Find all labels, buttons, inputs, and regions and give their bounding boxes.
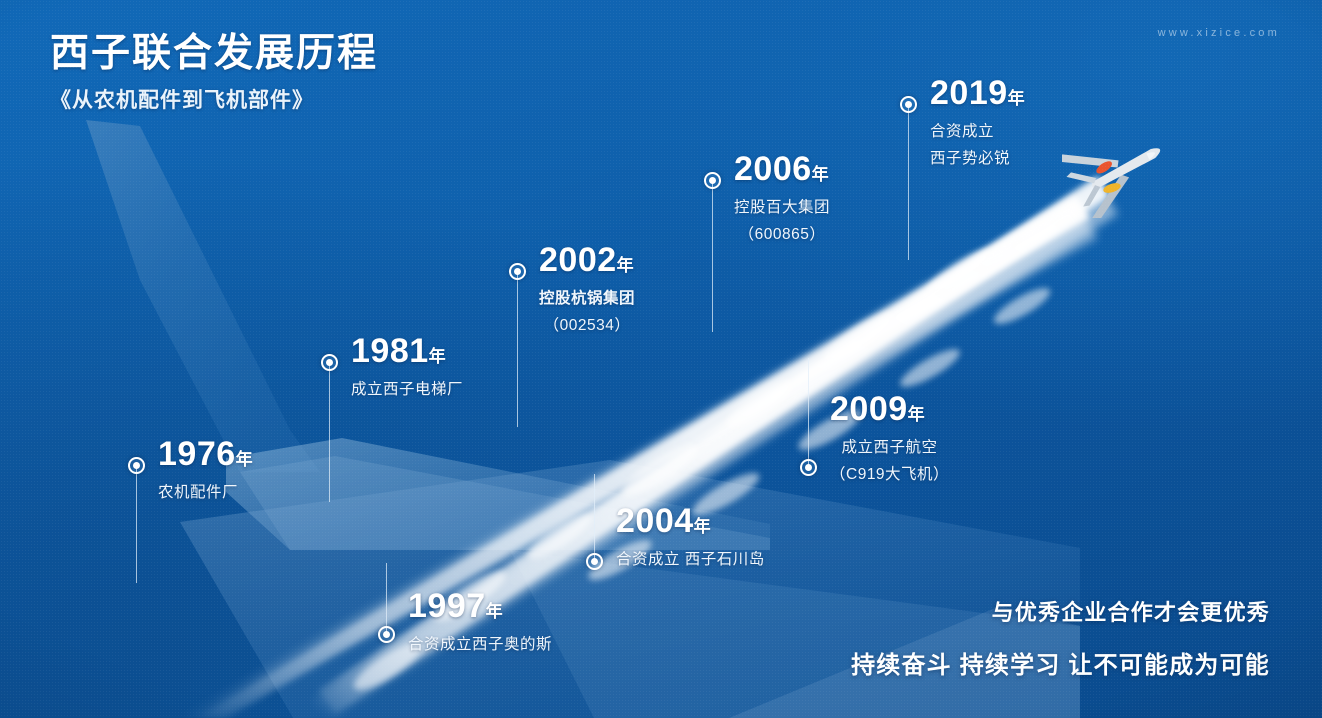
timeline-marker-dot[interactable] [704,172,721,189]
year-number: 1997 [408,587,486,625]
timeline-desc-line: 西子势必锐 [930,147,1025,171]
year-suffix: 年 [617,256,634,275]
timeline-desc-line: 农机配件厂 [158,481,253,505]
year-number: 2004 [616,502,694,540]
connector-line [517,271,518,427]
timeline-desc-line: （600865） [734,223,830,247]
timeline-year: 2009年 [830,392,949,426]
timeline-desc-line: 合资成立西子奥的斯 [408,633,552,657]
connector-line [808,358,809,468]
timeline-marker-dot[interactable] [378,626,395,643]
year-suffix: 年 [429,347,446,366]
timeline-desc-line: 合资成立 [930,120,1025,144]
connector-line [908,104,909,260]
slogan-line-2: 持续奋斗 持续学习 让不可能成为可能 [851,645,1270,680]
year-suffix: 年 [1008,89,1025,108]
timeline-marker-dot[interactable] [586,553,603,570]
timeline-marker-dot[interactable] [509,263,526,280]
poster-canvas: 西子联合发展历程 《从农机配件到飞机部件》 www.xizice.com 197… [0,0,1322,718]
airplane-icon [1062,126,1182,218]
timeline-year: 1976年 [158,437,253,471]
timeline-desc-line: 成立西子航空 [830,436,949,460]
connector-line [386,563,387,635]
year-suffix: 年 [486,602,503,621]
connector-line [594,474,595,562]
timeline-year: 2006年 [734,152,830,186]
connector-line [712,180,713,332]
timeline-year: 1997年 [408,589,552,623]
page-title: 西子联合发展历程 [50,32,378,77]
year-suffix: 年 [908,405,925,424]
timeline-marker-dot[interactable] [900,96,917,113]
timeline-year: 2019年 [930,76,1025,110]
slogan-line-1: 与优秀企业合作才会更优秀 [851,595,1270,627]
connector-line [329,362,330,502]
year-suffix: 年 [236,450,253,469]
year-number: 1976 [158,435,236,473]
year-number: 2019 [930,74,1008,112]
timeline-desc-line: （C919大飞机） [830,463,949,487]
year-number: 2009 [830,390,908,428]
year-number: 2006 [734,150,812,188]
slogan-block: 与优秀企业合作才会更优秀 持续奋斗 持续学习 让不可能成为可能 [851,595,1270,680]
site-watermark: www.xizice.com [1158,27,1280,39]
timeline-desc-line: 控股杭锅集团 [539,287,635,311]
year-number: 1981 [351,332,429,370]
timeline-desc-line: 成立西子电梯厂 [351,378,463,402]
timeline-marker-dot[interactable] [128,457,145,474]
timeline-marker-dot[interactable] [321,354,338,371]
timeline-year: 1981年 [351,334,463,368]
year-suffix: 年 [694,517,711,536]
timeline-desc-line: 合资成立 西子石川岛 [616,548,765,572]
header-block: 西子联合发展历程 《从农机配件到飞机部件》 [50,32,378,114]
timeline-desc-line: 控股百大集团 [734,196,830,220]
year-number: 2002 [539,241,617,279]
year-suffix: 年 [812,165,829,184]
timeline-year: 2002年 [539,243,635,277]
connector-line [136,465,137,583]
timeline-desc-line: （002534） [539,314,635,338]
page-subtitle: 《从农机配件到飞机部件》 [50,84,378,114]
timeline-year: 2004年 [616,504,765,538]
timeline-marker-dot[interactable] [800,459,817,476]
